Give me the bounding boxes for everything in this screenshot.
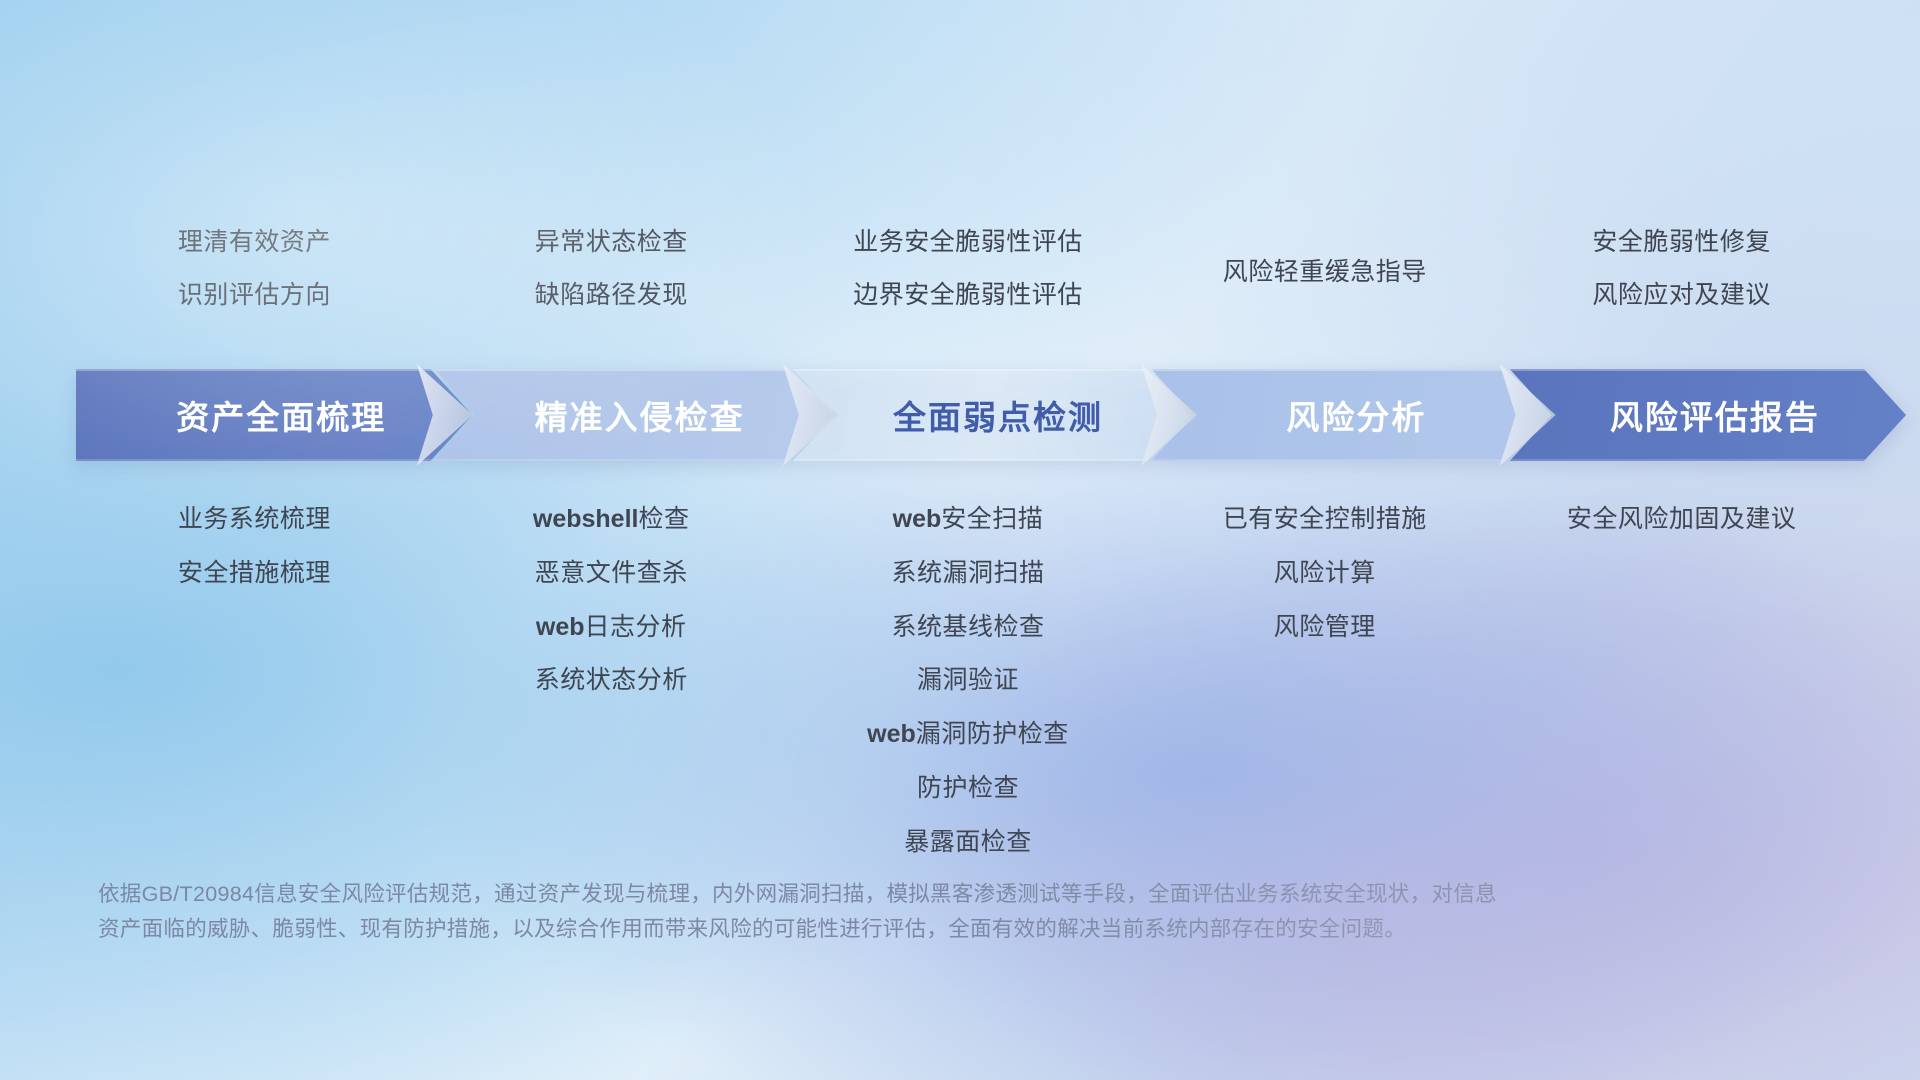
activities-column-4: 已有安全控制措施 风险计算 风险管理 bbox=[1146, 505, 1503, 641]
activity-text: 漏洞验证 bbox=[917, 666, 1019, 695]
activity-text: web日志分析 bbox=[536, 613, 687, 642]
activity-text: 安全风险加固及建议 bbox=[1567, 505, 1797, 534]
activities-column-2: webshell检查 恶意文件查杀 web日志分析 系统状态分析 bbox=[433, 505, 790, 695]
footer-description: 依据GB/T20984信息安全风险评估规范，通过资产发现与梳理，内外网漏洞扫描，… bbox=[98, 877, 1628, 947]
activity-text: 风险管理 bbox=[1274, 613, 1376, 642]
activity-text: 已有安全控制措施 bbox=[1223, 505, 1427, 534]
activities-column-3: web安全扫描 系统漏洞扫描 系统基线检查 漏洞验证 web漏洞防护检查 防护检… bbox=[790, 505, 1147, 856]
activities-column-1: 业务系统梳理 安全措施梳理 bbox=[76, 505, 433, 588]
activities-column-5: 安全风险加固及建议 bbox=[1503, 505, 1860, 534]
activity-text: 暴露面检查 bbox=[904, 828, 1032, 857]
diagram-stage: 理清有效资产 识别评估方向 异常状态检查 缺陷路径发现 业务安全脆弱性评估 边界… bbox=[0, 0, 1920, 1080]
footer-line-2: 资产面临的威胁、脆弱性、现有防护措施，以及综合作用而带来风险的可能性进行评估，全… bbox=[98, 912, 1628, 947]
activity-text: 业务系统梳理 bbox=[178, 505, 331, 534]
activity-text: 风险计算 bbox=[1274, 559, 1376, 588]
activity-text: web漏洞防护检查 bbox=[867, 720, 1069, 749]
activity-text: 系统状态分析 bbox=[535, 666, 688, 695]
activity-text: web安全扫描 bbox=[893, 505, 1044, 534]
activity-text: 恶意文件查杀 bbox=[535, 559, 688, 588]
activity-text: 安全措施梳理 bbox=[178, 559, 331, 588]
activities-row: 业务系统梳理 安全措施梳理 webshell检查 恶意文件查杀 web日志分析 … bbox=[76, 505, 1860, 856]
activity-text: 系统漏洞扫描 bbox=[891, 559, 1044, 588]
activity-text: webshell检查 bbox=[533, 505, 690, 534]
activity-text: 防护检查 bbox=[917, 774, 1019, 803]
footer-line-1: 依据GB/T20984信息安全风险评估规范，通过资产发现与梳理，内外网漏洞扫描，… bbox=[98, 877, 1628, 912]
activity-text: 系统基线检查 bbox=[891, 613, 1044, 642]
